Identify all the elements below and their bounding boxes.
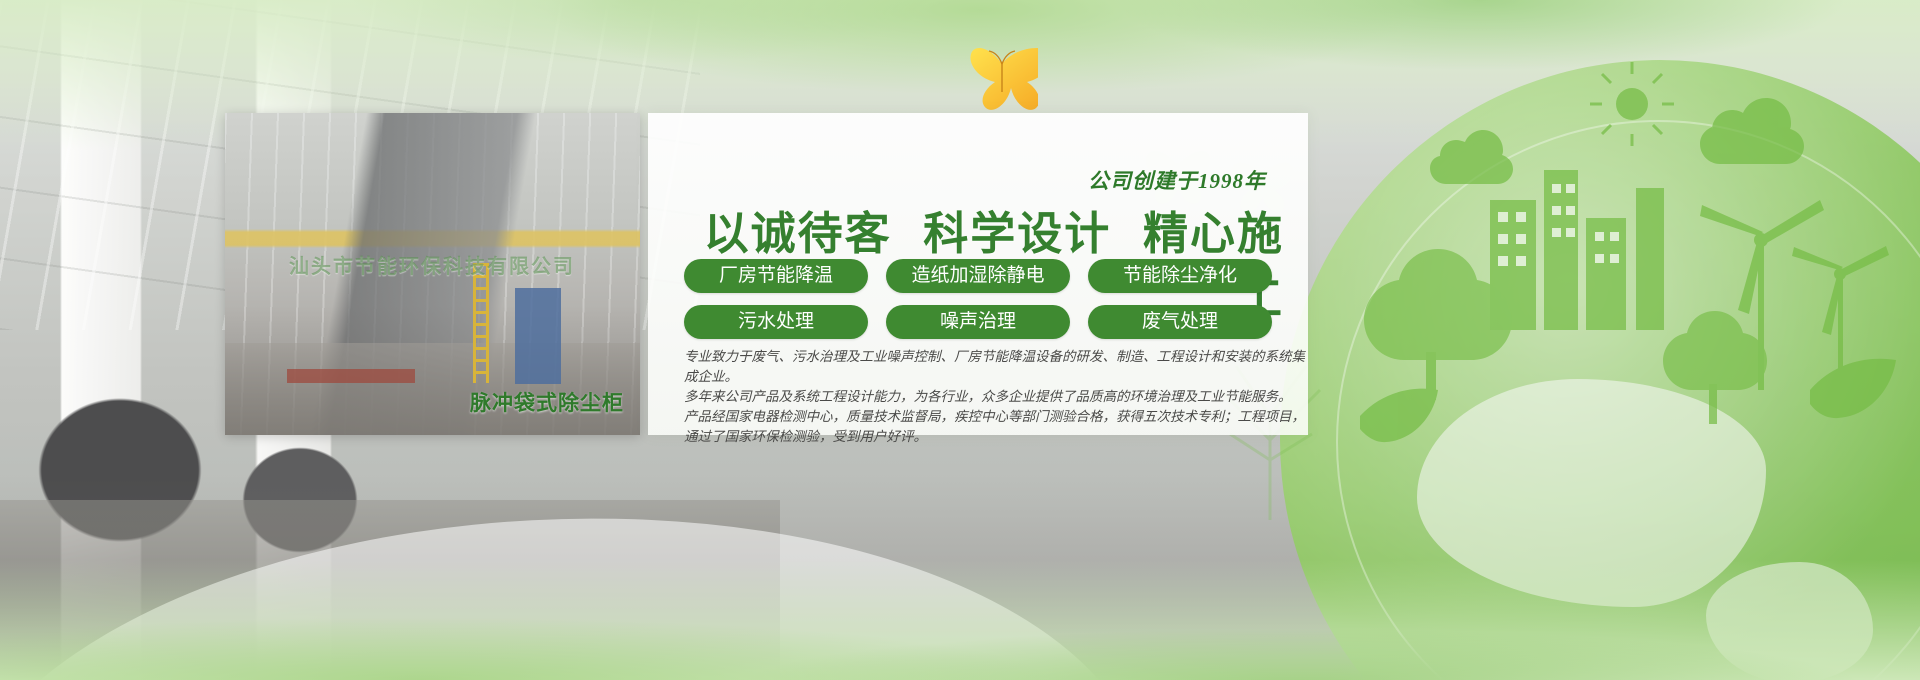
service-tag-paper-humidify[interactable]: 造纸加湿除静电: [886, 259, 1070, 293]
service-tag-dust-purify[interactable]: 节能除尘净化: [1088, 259, 1272, 293]
service-tag-list: 厂房节能降温 造纸加湿除静电 节能除尘净化 污水处理 噪声治理 废气处理: [684, 259, 1284, 339]
service-tag-exhaust-gas[interactable]: 废气处理: [1088, 305, 1272, 339]
content-panel: 公司创建于1998年 以诚待客 科学设计 精心施工 厂房节能降温 造纸加湿除静电…: [648, 113, 1308, 435]
project-photo-base: [287, 369, 415, 383]
headline-part-1: 以诚待客: [704, 207, 892, 260]
bottom-watercolor-wash: [0, 560, 1920, 680]
eco-city-skyline-icon: [1340, 60, 1900, 480]
description-line-4: 通过了国家环保检测验，受到用户好评。: [684, 427, 1306, 447]
butterfly-icon: [968, 42, 1038, 112]
description-line-2: 多年来公司产品及系统工程设计能力，为各行业，众多企业提供了品质高的环境治理及工业…: [684, 387, 1306, 407]
headline-part-2: 科学设计: [923, 207, 1111, 260]
project-photo-card: 脉冲袋式除尘柜: [225, 113, 640, 435]
established-label: 公司创建于1998年: [1088, 165, 1266, 195]
project-photo-ladder: [473, 263, 489, 383]
description-line-1: 专业致力于废气、污水治理及工业噪声控制、厂房节能降温设备的研发、制造、工程设计和…: [684, 347, 1306, 387]
project-photo-caption: 脉冲袋式除尘柜: [470, 387, 624, 417]
service-tag-factory-cooling[interactable]: 厂房节能降温: [684, 259, 868, 293]
company-description: 专业致力于废气、污水治理及工业噪声控制、厂房节能降温设备的研发、制造、工程设计和…: [684, 347, 1306, 447]
project-photo-door: [515, 288, 561, 384]
promo-banner: 脉冲袋式除尘柜 汕头市节能环保科技有限公司 公司创建于1998年 以诚待客 科学…: [0, 0, 1920, 680]
service-tag-sewage-treatment[interactable]: 污水处理: [684, 305, 868, 339]
description-line-3: 产品经国家电器检测中心，质量技术监督局，疾控中心等部门测验合格，获得五次技术专利…: [684, 407, 1306, 427]
service-tag-noise-control[interactable]: 噪声治理: [886, 305, 1070, 339]
